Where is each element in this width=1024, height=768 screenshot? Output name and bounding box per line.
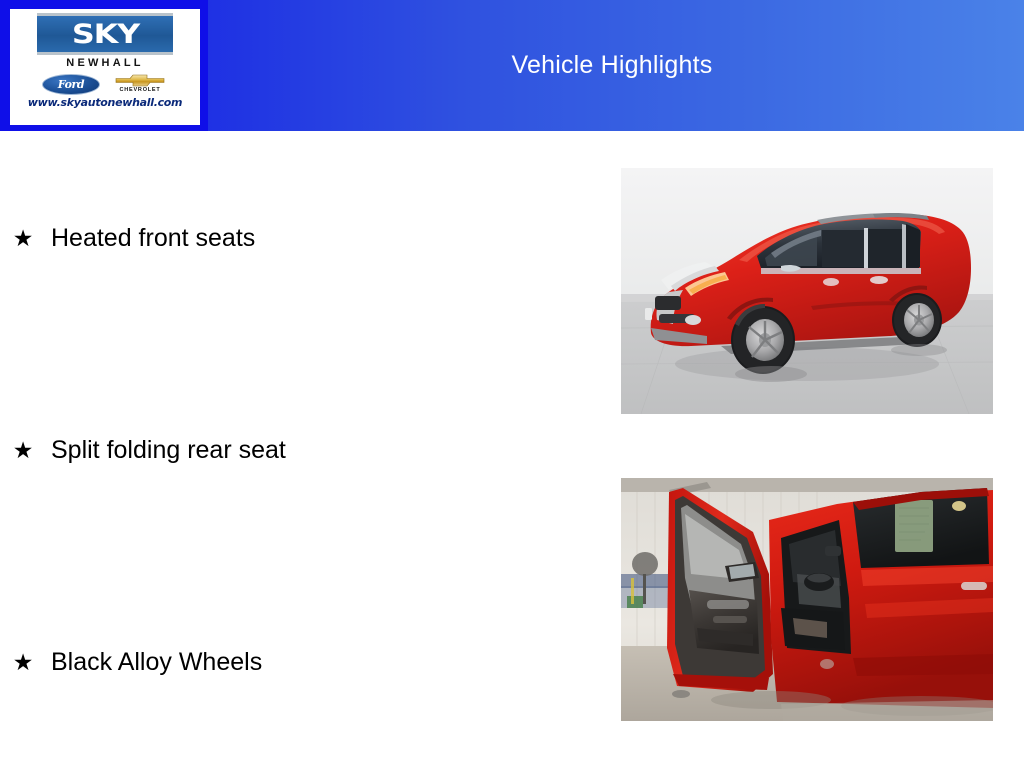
highlight-item: ★ Split folding rear seat	[12, 433, 572, 467]
ford-wordmark: Ford	[58, 79, 84, 90]
chevy-bowtie-icon	[115, 74, 165, 87]
highlight-item: ★ Black Alloy Wheels	[12, 645, 572, 679]
sky-brand-text: SKY	[71, 21, 138, 48]
logo-location-text: NEWHALL	[66, 58, 143, 69]
chevrolet-logo-icon: CHEVROLET	[112, 74, 168, 94]
star-bullet-icon: ★	[12, 433, 34, 467]
logo-panel: SKY NEWHALL Ford	[10, 9, 200, 125]
highlight-label: Black Alloy Wheels	[51, 645, 262, 679]
chevrolet-wordmark: CHEVROLET	[119, 88, 160, 94]
highlight-label: Heated front seats	[51, 221, 255, 255]
dealer-website-url[interactable]: www.skyautonewhall.com	[28, 97, 182, 108]
vehicle-exterior-photo	[621, 168, 993, 414]
page-title: Vehicle Highlights	[200, 0, 1024, 131]
highlight-item: ★ Heated front seats	[12, 221, 572, 255]
star-bullet-icon: ★	[12, 221, 34, 255]
ford-logo-icon: Ford	[42, 74, 100, 95]
sky-brand-box: SKY	[37, 13, 173, 55]
vehicle-interior-photo	[621, 478, 993, 721]
brand-badge-row: Ford	[10, 73, 200, 95]
star-bullet-icon: ★	[12, 645, 34, 679]
dealer-logo[interactable]: SKY NEWHALL Ford	[0, 0, 208, 131]
highlight-label: Split folding rear seat	[51, 433, 286, 467]
